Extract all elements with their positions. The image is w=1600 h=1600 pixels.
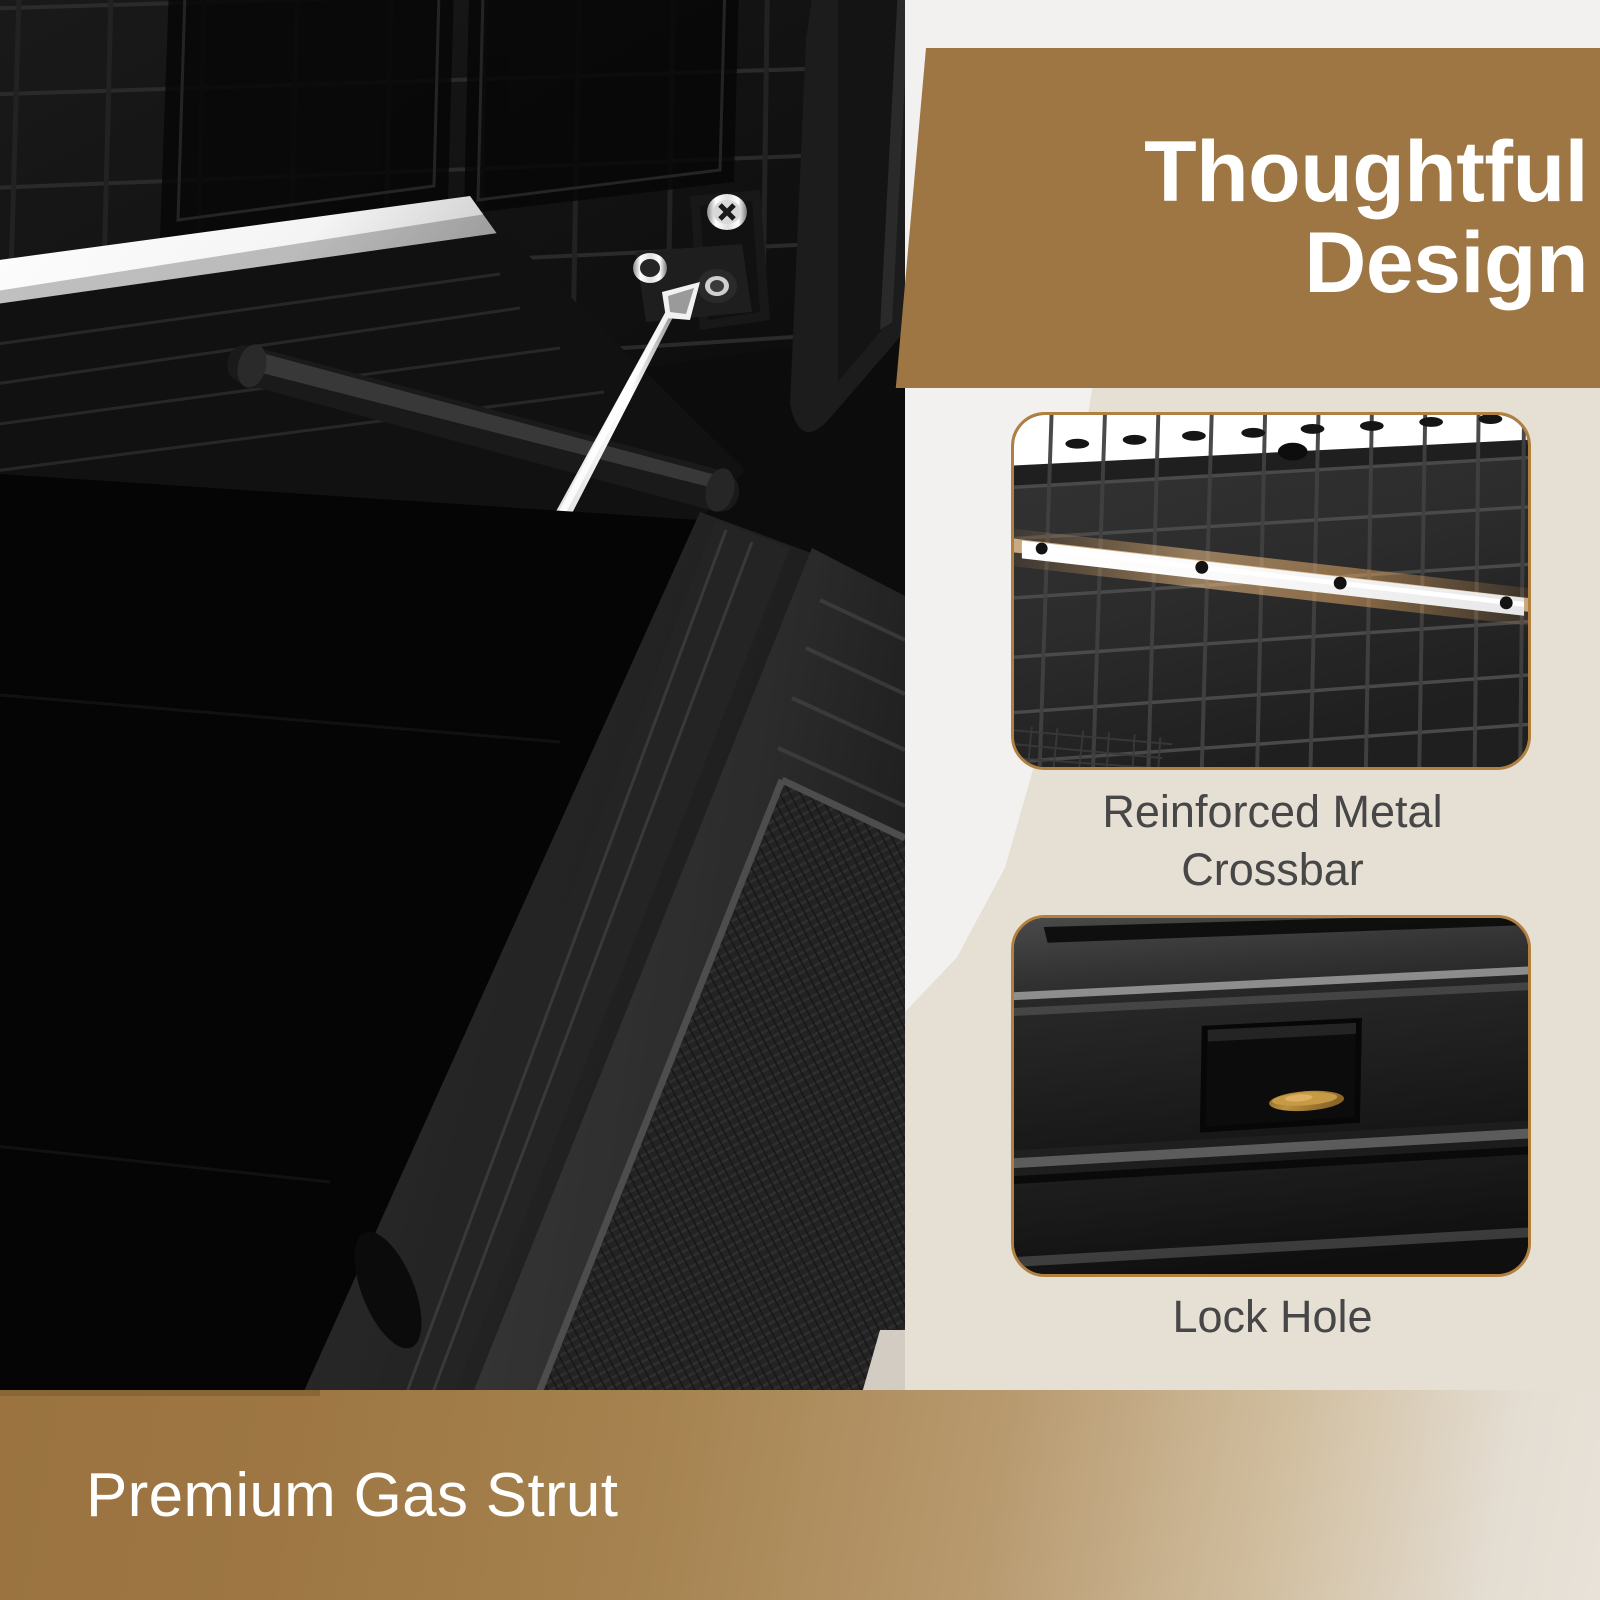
product-feature-infographic: Thoughtful Design: [0, 0, 1600, 1600]
footer-title: Premium Gas Strut: [0, 1460, 618, 1531]
chrome-screw-left: [633, 253, 667, 283]
callout-card-lock-hole[interactable]: [1011, 915, 1531, 1277]
footer-banner: Premium Gas Strut: [0, 1390, 1600, 1600]
crossbar-detail-image: [1014, 415, 1528, 767]
page-title-line-1: Thoughtful: [1144, 127, 1588, 218]
caption-reinforced-metal-crossbar: Reinforced Metal Crossbar: [1005, 783, 1540, 898]
header-banner: Thoughtful Design: [890, 48, 1600, 388]
lock-hole-detail-image: [1014, 918, 1528, 1274]
page-title-line-2: Design: [1144, 218, 1588, 309]
chrome-screw-upper: [707, 194, 747, 230]
callout-card-reinforced-metal-crossbar[interactable]: [1011, 412, 1531, 770]
recessed-handle-pocket: [1200, 1018, 1362, 1133]
caption-lock-hole: Lock Hole: [1005, 1288, 1540, 1346]
main-product-photo: [0, 0, 905, 1400]
footer-top-edge-accent: [0, 1390, 320, 1396]
page-title: Thoughtful Design: [1144, 127, 1600, 309]
deck-box-illustration: [0, 0, 905, 1400]
